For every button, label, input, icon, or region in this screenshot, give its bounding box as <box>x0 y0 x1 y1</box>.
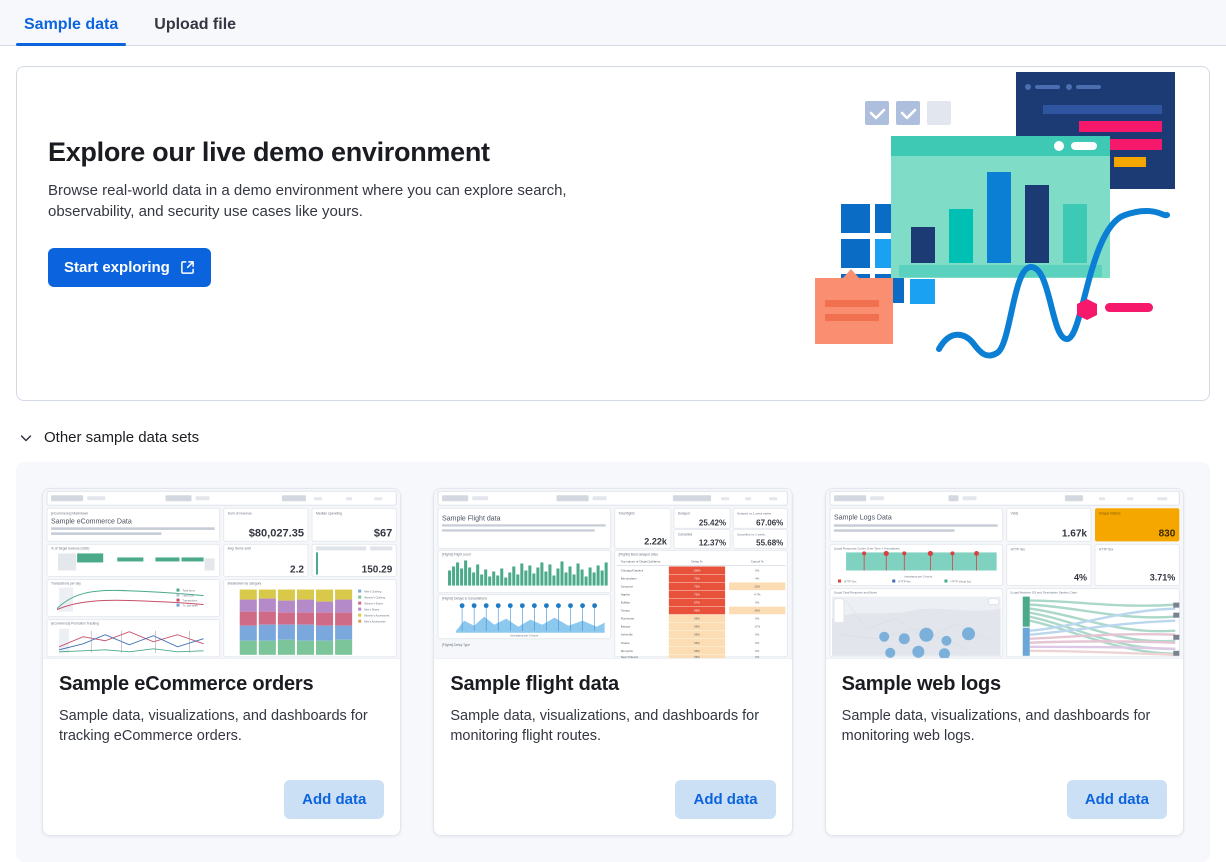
svg-text:58%: 58% <box>695 649 701 653</box>
chevron-down-icon <box>18 430 34 446</box>
svg-text:% of Target revenue (USD): % of Target revenue (USD) <box>51 546 89 550</box>
svg-text:Delayed vs 1 week earlier: Delayed vs 1 week earlier <box>737 511 771 515</box>
svg-text:Chicago/Gatwick: Chicago/Gatwick <box>621 568 644 572</box>
hero-subtitle: Browse real-world data in a demo environ… <box>48 180 573 222</box>
tab-bar: Sample data Upload file <box>0 0 1226 46</box>
data-dashboard-illustration <box>815 67 1185 401</box>
svg-text:HTTP Visual 5xx: HTTP Visual 5xx <box>950 580 971 584</box>
start-exploring-button[interactable]: Start exploring <box>48 248 211 287</box>
svg-text:0%: 0% <box>756 641 761 645</box>
svg-text:HTTP 5xx: HTTP 5xx <box>1099 547 1114 551</box>
svg-text:150.29: 150.29 <box>362 564 393 575</box>
svg-text:Men's Clothing: Men's Clothing <box>364 590 382 594</box>
svg-text:830: 830 <box>1158 528 1175 539</box>
svg-text:0%: 0% <box>756 601 761 605</box>
card-description-ecommerce: Sample data, visualizations, and dashboa… <box>59 706 384 746</box>
card-title-flights: Sample flight data <box>450 673 775 696</box>
card-title-ecommerce: Sample eCommerce orders <box>59 673 384 696</box>
ecommerce-thumbnail-graphic: [eCommerce] Markdown Sample eCommerce Da… <box>43 489 400 658</box>
svg-text:Avg. items sold: Avg. items sold <box>228 546 251 550</box>
svg-text:2.22k: 2.22k <box>645 536 669 546</box>
card-title-weblogs: Sample web logs <box>842 673 1167 696</box>
svg-text:[Flights] Delays & Cancellatio: [Flights] Delays & Cancellations <box>442 597 487 601</box>
svg-text:Sum of revenue: Sum of revenue <box>228 511 252 515</box>
svg-text:Buffalo: Buffalo <box>621 601 631 605</box>
svg-text:Sample Flight data: Sample Flight data <box>442 515 501 522</box>
svg-text:4.7%: 4.7% <box>754 593 761 597</box>
svg-text:[Logs] Total Requests and Byte: [Logs] Total Requests and Bytes <box>834 591 877 595</box>
page-title: Explore our live demo environment <box>48 137 588 168</box>
svg-text:Osaka: Osaka <box>621 641 630 645</box>
svg-text:HTTP 5xx: HTTP 5xx <box>844 580 857 584</box>
tab-sample-data[interactable]: Sample data <box>16 17 126 45</box>
svg-text:[Flights] Delay Type: [Flights] Delay Type <box>442 643 470 647</box>
svg-text:Breakdown by category: Breakdown by category <box>228 582 262 586</box>
flight-thumbnail-graphic: Sample Flight data Total flights 2.22k D… <box>434 489 791 658</box>
svg-text:0%: 0% <box>756 568 761 572</box>
svg-text:55.68%: 55.68% <box>756 538 783 547</box>
svg-text:Sample Logs Data: Sample Logs Data <box>834 514 892 521</box>
add-data-button-weblogs[interactable]: Add data <box>1067 780 1167 819</box>
svg-text:HTTP 4xx: HTTP 4xx <box>898 580 911 584</box>
svg-text:Visits: Visits <box>1010 511 1018 515</box>
svg-text:3.71%: 3.71% <box>1149 573 1175 583</box>
svg-text:58%: 58% <box>695 617 701 621</box>
svg-text:[Logs] Response Codes Over Tim: [Logs] Response Codes Over Time + Annota… <box>834 546 900 550</box>
ecommerce-dashboard-thumbnail: [eCommerce] Markdown Sample eCommerce Da… <box>43 489 400 659</box>
sample-data-card-weblogs[interactable]: Sample Logs Data Visits 1.67k Unique Vis… <box>825 488 1184 836</box>
svg-text:73%: 73% <box>695 585 701 589</box>
svg-text:0%: 0% <box>756 649 761 653</box>
card-footer-flights: Add data <box>434 780 791 835</box>
svg-text:17%: 17% <box>755 625 761 629</box>
svg-text:Tx. last week: Tx. last week <box>183 604 199 608</box>
svg-text:Memphis: Memphis <box>621 649 634 653</box>
svg-text:Top values of OriginCityName: Top values of OriginCityName <box>621 559 661 563</box>
start-exploring-label: Start exploring <box>64 259 170 276</box>
svg-text:Birmingham: Birmingham <box>621 577 638 581</box>
svg-text:2.2: 2.2 <box>290 564 304 575</box>
svg-text:Total flights: Total flights <box>619 511 635 515</box>
card-body-weblogs: Sample web logs Sample data, visualizati… <box>826 659 1183 780</box>
svg-text:New Orleans: New Orleans <box>621 655 639 658</box>
svg-text:Last 1000: Last 1000 <box>183 594 195 598</box>
svg-text:Transactions per day: Transactions per day <box>51 582 81 586</box>
svg-text:4%: 4% <box>756 577 761 581</box>
svg-text:25%: 25% <box>755 585 761 589</box>
tab-sample-data-label: Sample data <box>24 16 118 33</box>
svg-text:[Flights] Most delayed cities: [Flights] Most delayed cities <box>619 552 659 556</box>
sample-data-card-ecommerce[interactable]: [eCommerce] Markdown Sample eCommerce Da… <box>42 488 401 836</box>
svg-text:Men's Accessories: Men's Accessories <box>364 620 386 624</box>
svg-text:Women's Accessories: Women's Accessories <box>364 614 390 618</box>
add-data-button-ecommerce[interactable]: Add data <box>284 780 384 819</box>
tab-upload-file[interactable]: Upload file <box>146 17 244 45</box>
add-data-button-flights[interactable]: Add data <box>675 780 775 819</box>
svg-text:67.06%: 67.06% <box>756 518 783 527</box>
card-description-flights: Sample data, visualizations, and dashboa… <box>450 706 775 746</box>
card-description-weblogs: Sample data, visualizations, and dashboa… <box>842 706 1167 746</box>
svg-text:Cancelled: Cancelled <box>678 532 692 536</box>
svg-text:Total items: Total items <box>183 589 196 593</box>
sample-data-card-grid: [eCommerce] Markdown Sample eCommerce Da… <box>16 462 1210 862</box>
svg-text:Cancelled vs 1 week...: Cancelled vs 1 week... <box>737 532 767 536</box>
svg-text:Cancel %: Cancel % <box>751 559 764 563</box>
hero-text-block: Explore our live demo environment Browse… <box>48 137 588 287</box>
svg-text:Syracuse: Syracuse <box>621 585 634 589</box>
svg-text:66%: 66% <box>695 609 701 613</box>
svg-text:25.42%: 25.42% <box>699 518 726 527</box>
svg-text:$67: $67 <box>374 527 392 539</box>
checkbox-group-icon <box>865 101 951 125</box>
svg-text:58%: 58% <box>695 625 701 629</box>
svg-text:Sample eCommerce Data: Sample eCommerce Data <box>51 518 132 525</box>
svg-text:4%: 4% <box>1074 573 1087 583</box>
svg-text:timestamp per 3 hours: timestamp per 3 hours <box>511 634 539 638</box>
svg-text:56%: 56% <box>695 633 701 637</box>
flight-dashboard-thumbnail: Sample Flight data Total flights 2.22k D… <box>434 489 791 659</box>
svg-text:timestamp per 3 hours: timestamp per 3 hours <box>904 575 932 579</box>
svg-text:1.67k: 1.67k <box>1062 528 1087 539</box>
svg-text:Delay %: Delay % <box>692 559 704 563</box>
svg-text:[Logs] Machine OS and Destinat: [Logs] Machine OS and Destination Sankey… <box>1010 591 1076 595</box>
weblogs-thumbnail-graphic: Sample Logs Data Visits 1.67k Unique Vis… <box>826 489 1183 658</box>
svg-text:HTTP 4xx: HTTP 4xx <box>1010 547 1025 551</box>
svg-text:Delayed: Delayed <box>678 511 690 515</box>
sample-data-card-flights[interactable]: Sample Flight data Total flights 2.22k D… <box>433 488 792 836</box>
svg-text:0%: 0% <box>756 633 761 637</box>
svg-text:100%: 100% <box>694 568 702 572</box>
svg-text:Asheville: Asheville <box>621 633 633 637</box>
svg-text:0%: 0% <box>756 655 761 658</box>
svg-text:Naples: Naples <box>621 593 631 597</box>
other-sample-data-sets-toggle[interactable]: Other sample data sets <box>18 429 238 446</box>
card-footer-weblogs: Add data <box>826 780 1183 835</box>
tab-upload-file-label: Upload file <box>154 16 236 33</box>
card-footer-ecommerce: Add data <box>43 780 400 835</box>
svg-text:[eCommerce] Promotion Tracking: [eCommerce] Promotion Tracking <box>51 622 99 626</box>
card-body-ecommerce: Sample eCommerce orders Sample data, vis… <box>43 659 400 780</box>
svg-text:Women's Clothing: Women's Clothing <box>364 596 385 600</box>
svg-text:56%: 56% <box>695 655 701 658</box>
svg-text:Bangor: Bangor <box>621 625 631 629</box>
svg-text:Men's Shoes: Men's Shoes <box>364 608 380 612</box>
svg-text:Rochester: Rochester <box>621 617 635 621</box>
svg-text:Transactions: Transactions <box>183 599 198 603</box>
svg-text:73%: 73% <box>695 577 701 581</box>
svg-text:0%: 0% <box>756 617 761 621</box>
weblogs-dashboard-thumbnail: Sample Logs Data Visits 1.67k Unique Vis… <box>826 489 1183 659</box>
svg-text:$80,027.35: $80,027.35 <box>249 527 304 539</box>
card-body-flights: Sample flight data Sample data, visualiz… <box>434 659 791 780</box>
svg-text:[eCommerce] Markdown: [eCommerce] Markdown <box>51 511 88 515</box>
teal-dashboard-window-graphic <box>891 136 1110 278</box>
svg-text:Women's Shoes: Women's Shoes <box>364 602 383 606</box>
svg-text:12.37%: 12.37% <box>699 538 726 547</box>
svg-text:[Flights] Flight count: [Flights] Flight count <box>442 552 471 556</box>
svg-text:67%: 67% <box>695 601 701 605</box>
other-sample-data-sets-label: Other sample data sets <box>44 429 199 446</box>
svg-text:Unique Visitors: Unique Visitors <box>1099 511 1121 515</box>
external-link-icon <box>180 260 195 275</box>
svg-text:Median spending: Median spending <box>316 511 342 515</box>
svg-text:73%: 73% <box>695 593 701 597</box>
svg-text:56%: 56% <box>695 641 701 645</box>
orange-card-graphic <box>815 269 893 344</box>
svg-text:Tampa: Tampa <box>621 609 630 613</box>
demo-environment-panel: Explore our live demo environment Browse… <box>16 66 1210 401</box>
svg-text:36%: 36% <box>755 609 761 613</box>
